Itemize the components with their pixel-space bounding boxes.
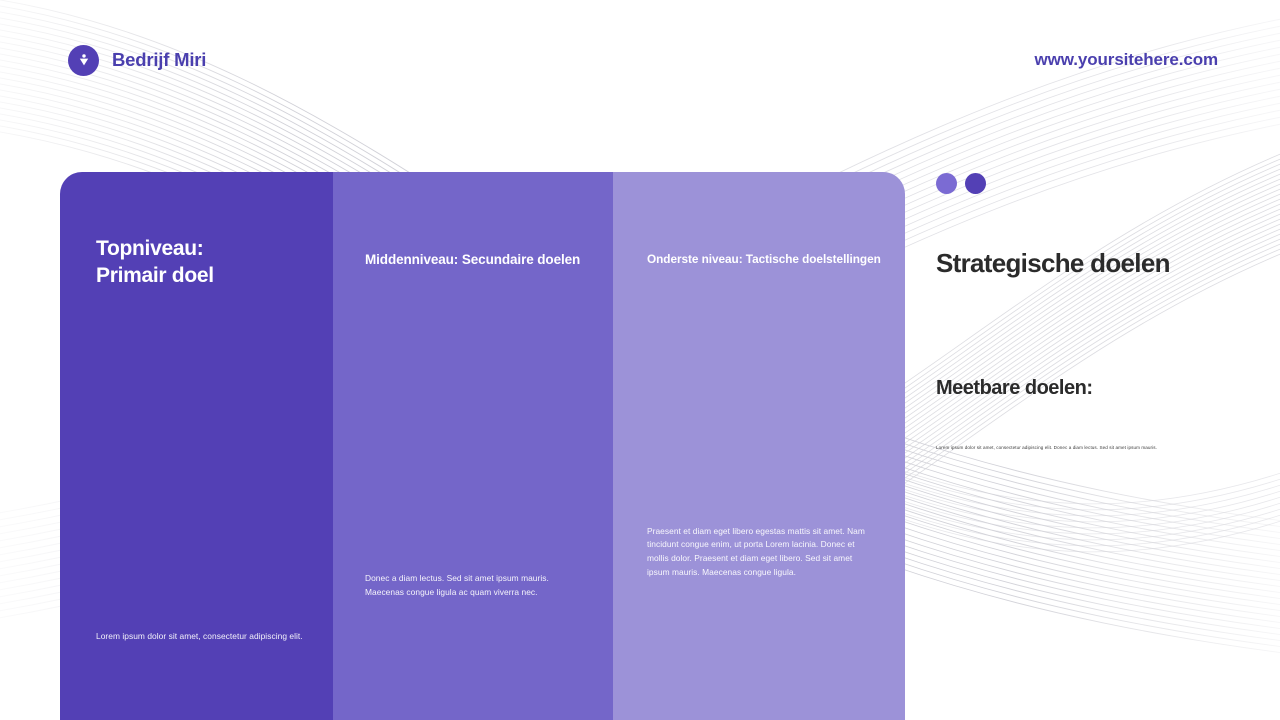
dot-dark-icon [965,173,986,194]
column-middle-level[interactable]: Middenniveau: Secundaire doelen Donec a … [333,172,613,720]
side-panel-subtitle: Meetbare doelen: [936,377,1236,400]
column-top-level-heading-line2: Primair doel [96,264,214,287]
column-top-level-heading-line1: Topniveau: [96,237,203,260]
column-bottom-level-body: Praesent et diam eget libero egestas mat… [647,525,877,580]
slide-header: Bedrijf Miri www.yoursitehere.com [68,42,1218,78]
column-top-level[interactable]: Topniveau: Primair doel Lorem ipsum dolo… [60,172,333,720]
slide-canvas: Bedrijf Miri www.yoursitehere.com Topniv… [0,0,1280,720]
column-top-level-heading: Topniveau: Primair doel [96,236,214,290]
column-middle-level-body: Donec a diam lectus. Sed sit amet ipsum … [365,572,575,600]
column-top-level-body: Lorem ipsum dolor sit amet, consectetur … [96,630,311,644]
side-panel-title: Strategische doelen [936,248,1236,279]
side-panel: Strategische doelen Meetbare doelen: Lor… [936,172,1236,452]
website-url-link[interactable]: www.yoursitehere.com [1035,50,1218,70]
column-bottom-level-heading: Onderste niveau: Tactische doelstellinge… [647,252,881,266]
arrow-down-badge-icon [68,45,99,76]
column-middle-level-heading: Middenniveau: Secundaire doelen [365,252,580,267]
goal-levels-card: Topniveau: Primair doel Lorem ipsum dolo… [60,172,905,720]
side-panel-body: Lorem ipsum dolor sit amet, consectetur … [936,444,1236,451]
brand-name: Bedrijf Miri [112,49,206,71]
decorative-dots [936,173,1236,194]
column-bottom-level[interactable]: Onderste niveau: Tactische doelstellinge… [613,172,905,720]
brand-logo[interactable]: Bedrijf Miri [68,45,206,76]
dot-light-icon [936,173,957,194]
